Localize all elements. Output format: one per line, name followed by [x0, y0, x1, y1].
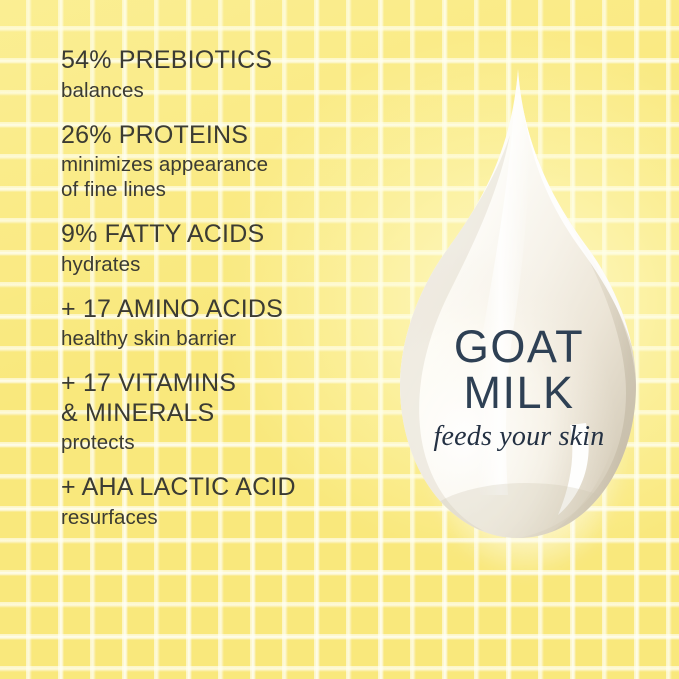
- ingredient-list: 54% PREBIOTICS balances 26% PROTEINS min…: [61, 46, 391, 530]
- goat-milk-ingredient-poster: GOAT MILK feeds your skin 54% PREBIOTICS…: [0, 0, 679, 679]
- ingredient-title: 54% PREBIOTICS: [61, 46, 391, 76]
- ingredient-benefit: balances: [61, 78, 391, 103]
- ingredient-benefit: minimizes appearance of fine lines: [61, 152, 391, 202]
- ingredient-title: 26% PROTEINS: [61, 121, 391, 151]
- ingredient-item-vitamins-minerals: + 17 VITAMINS & MINERALS protects: [61, 369, 391, 455]
- ingredient-item-proteins: 26% PROTEINS minimizes appearance of fin…: [61, 121, 391, 203]
- droplet-label-block: GOAT MILK feeds your skin: [398, 325, 640, 453]
- ingredient-item-amino-acids: + 17 AMINO ACIDS healthy skin barrier: [61, 295, 391, 352]
- ingredient-item-prebiotics: 54% PREBIOTICS balances: [61, 46, 391, 103]
- droplet-tagline: feeds your skin: [398, 421, 640, 453]
- ingredient-benefit: hydrates: [61, 252, 391, 277]
- milk-droplet-icon: [380, 55, 660, 555]
- ingredient-benefit: resurfaces: [61, 505, 391, 530]
- ingredient-benefit: healthy skin barrier: [61, 326, 391, 351]
- droplet-label-milk: MILK: [398, 371, 640, 415]
- droplet-label-goat: GOAT: [398, 325, 640, 369]
- ingredient-item-aha-lactic-acid: + AHA LACTIC ACID resurfaces: [61, 473, 391, 530]
- ingredient-item-fatty-acids: 9% FATTY ACIDS hydrates: [61, 220, 391, 277]
- ingredient-benefit: protects: [61, 430, 391, 455]
- ingredient-title: + AHA LACTIC ACID: [61, 473, 391, 503]
- ingredient-title: + 17 VITAMINS & MINERALS: [61, 369, 391, 428]
- milk-droplet-graphic: [380, 55, 660, 555]
- ingredient-title: 9% FATTY ACIDS: [61, 220, 391, 250]
- ingredient-title: + 17 AMINO ACIDS: [61, 295, 391, 325]
